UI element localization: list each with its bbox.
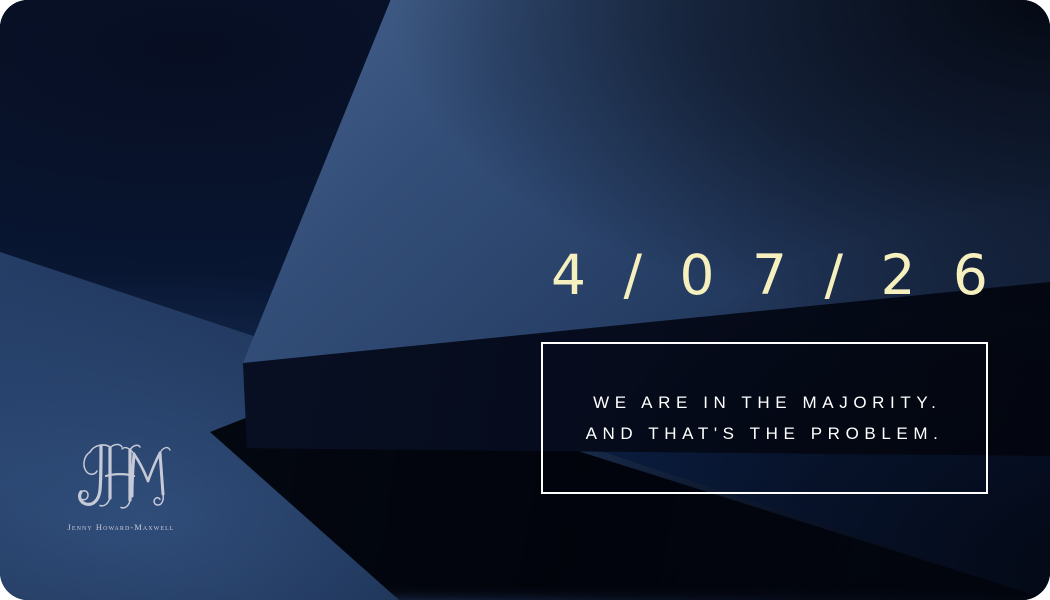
- slide-content: 4 / 0 7 / 2 6 WE ARE IN THE MAJORITY. AN…: [0, 0, 1050, 600]
- slide-canvas: 4 / 0 7 / 2 6 WE ARE IN THE MAJORITY. AN…: [0, 0, 1050, 600]
- quote-box: WE ARE IN THE MAJORITY. AND THAT'S THE P…: [541, 342, 988, 494]
- quote-text: WE ARE IN THE MAJORITY. AND THAT'S THE P…: [543, 387, 986, 449]
- jhm-monogram-icon: [60, 438, 182, 516]
- brand-name: Jenny Howard-Maxwell: [60, 522, 182, 532]
- brand-logo: Jenny Howard-Maxwell: [60, 438, 182, 532]
- event-date: 4 / 0 7 / 2 6: [541, 244, 988, 306]
